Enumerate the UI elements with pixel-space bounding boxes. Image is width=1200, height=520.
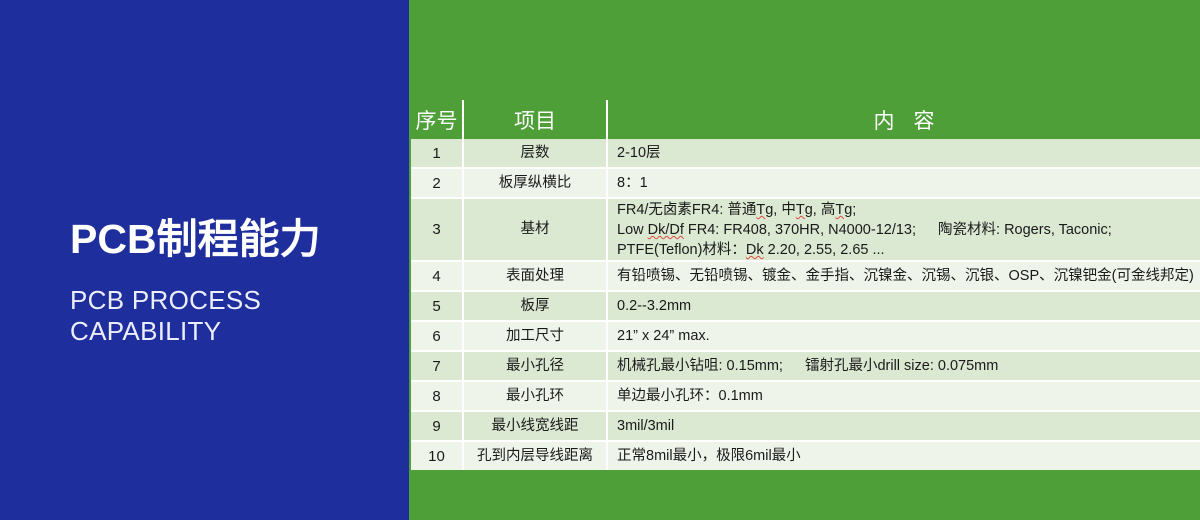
cell-no: 1 [411,139,463,168]
cell-no: 5 [411,291,463,321]
cell-content: 3mil/3mil [607,411,1200,441]
cell-no: 3 [411,198,463,261]
text-frag-misspelled: Dk [746,242,764,258]
cell-item: 基材 [463,198,607,261]
text-frag: 机械孔最小钻咀: 0.15mm; [617,358,783,374]
cell-item: 板厚纵横比 [463,168,607,198]
cell-content: 有铅喷锡、无铅喷锡、镀金、金手指、沉镍金、沉锡、沉银、OSP、沉镍钯金(可金线邦… [607,261,1200,291]
table-header-row: 序号 项目 内容 [411,100,1200,139]
cell-no: 10 [411,441,463,470]
table-row: 2 板厚纵横比 8：1 [411,168,1200,198]
column-header-no: 序号 [411,100,463,139]
text-frag: ; [852,202,856,218]
cell-content: FR4/无卤素FR4: 普通Tg, 中Tg, 高Tg; Low Dk/Df FR… [607,198,1200,261]
page-subtitle-line-2: CAPABILITY [70,316,400,347]
table-row: 4 表面处理 有铅喷锡、无铅喷锡、镀金、金手指、沉镍金、沉锡、沉银、OSP、沉镍… [411,261,1200,291]
column-header-content: 内容 [607,100,1200,139]
cell-no: 7 [411,351,463,381]
cell-content: 单边最小孔环：0.1mm [607,381,1200,411]
cell-no: 2 [411,168,463,198]
page-subtitle: PCB PROCESS CAPABILITY [70,285,400,347]
right-content-panel: 序号 项目 内容 1 层数 2-10层 2 板厚纵横比 8：1 3 [409,0,1200,520]
cell-content: 机械孔最小钻咀: 0.15mm;镭射孔最小drill size: 0.075mm [607,351,1200,381]
column-header-item: 项目 [463,100,607,139]
cell-no: 4 [411,261,463,291]
text-frag: Low [617,222,648,238]
cell-item: 层数 [463,139,607,168]
left-title-panel: PCB制程能力 PCB PROCESS CAPABILITY [0,0,409,520]
text-frag: , 中 [773,202,796,218]
cell-item: 孔到内层导线距离 [463,441,607,470]
table-row: 9 最小线宽线距 3mil/3mil [411,411,1200,441]
page-subtitle-line-1: PCB PROCESS [70,285,400,316]
table-body: 1 层数 2-10层 2 板厚纵横比 8：1 3 基材 FR4/无卤素FR4: … [411,139,1200,470]
text-frag: PTFE(Teflon)材料： [617,242,746,258]
cell-no: 6 [411,321,463,351]
slide-root: PCB制程能力 PCB PROCESS CAPABILITY 序号 项目 内容 [0,0,1200,520]
cell-content: 2-10层 [607,139,1200,168]
text-frag-misspelled: Tg [835,202,852,218]
cell-item: 表面处理 [463,261,607,291]
table-row: 6 加工尺寸 21” x 24” max. [411,321,1200,351]
table-row: 3 基材 FR4/无卤素FR4: 普通Tg, 中Tg, 高Tg; Low Dk/… [411,198,1200,261]
cell-item: 最小孔径 [463,351,607,381]
content-line-1: FR4/无卤素FR4: 普通Tg, 中Tg, 高Tg; [617,200,1200,220]
text-frag: FR4/无卤素FR4: 普通 [617,202,756,218]
cell-item: 最小孔环 [463,381,607,411]
text-frag: 镭射孔最小drill size: 0.075mm [805,358,998,374]
table-row: 5 板厚 0.2--3.2mm [411,291,1200,321]
text-frag-misspelled: Tg [796,202,813,218]
text-frag-misspelled: Dk/Df [648,222,684,238]
text-frag: , 高 [813,202,836,218]
table-row: 8 最小孔环 单边最小孔环：0.1mm [411,381,1200,411]
cell-item: 最小线宽线距 [463,411,607,441]
title-block: PCB制程能力 PCB PROCESS CAPABILITY [70,214,400,347]
content-line-3: PTFE(Teflon)材料：Dk 2.20, 2.55, 2.65 ... [617,240,1200,260]
text-frag: FR4: FR408, 370HR, N4000-12/13; [684,222,916,238]
cell-content: 0.2--3.2mm [607,291,1200,321]
text-frag-misspelled: Tg [756,202,773,218]
content-line-2: Low Dk/Df FR4: FR408, 370HR, N4000-12/13… [617,220,1200,240]
cell-item: 板厚 [463,291,607,321]
cell-no: 8 [411,381,463,411]
cell-no: 9 [411,411,463,441]
table-row: 7 最小孔径 机械孔最小钻咀: 0.15mm;镭射孔最小drill size: … [411,351,1200,381]
text-frag: 2.20, 2.55, 2.65 ... [764,242,885,258]
cell-content: 8：1 [607,168,1200,198]
text-frag: 陶瓷材料: Rogers, Taconic; [938,222,1112,238]
pcb-capability-table: 序号 项目 内容 1 层数 2-10层 2 板厚纵横比 8：1 3 [411,100,1200,470]
cell-content: 正常8mil最小，极限6mil最小 [607,441,1200,470]
table-row: 10 孔到内层导线距离 正常8mil最小，极限6mil最小 [411,441,1200,470]
page-title: PCB制程能力 [70,214,400,264]
cell-content: 21” x 24” max. [607,321,1200,351]
table-row: 1 层数 2-10层 [411,139,1200,168]
cell-item: 加工尺寸 [463,321,607,351]
table-header: 序号 项目 内容 [411,100,1200,139]
